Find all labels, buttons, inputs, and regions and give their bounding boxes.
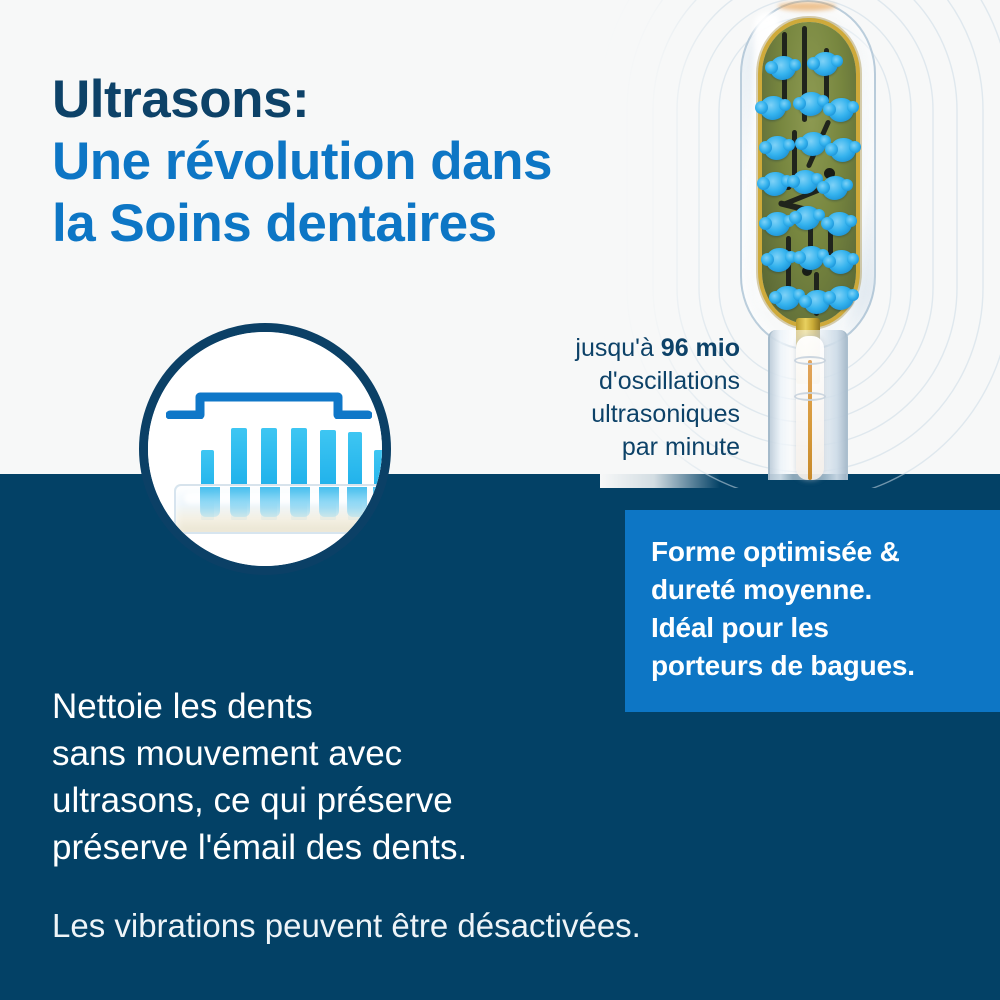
- body-line-1: Nettoie les dents: [52, 683, 612, 730]
- oscillation-caption: jusqu'à 96 mio d'oscillations ultrasoniq…: [470, 332, 740, 464]
- oscillation-line-1: jusqu'à 96 mio: [470, 332, 740, 365]
- callout-line-4: porteurs de bagues.: [651, 647, 981, 685]
- oscillation-prefix: jusqu'à: [575, 334, 660, 362]
- handle-inner-wire: [808, 360, 812, 480]
- callout-line-1: Forme optimisée &: [651, 533, 981, 571]
- footnote-text: Les vibrations peuvent être désactivées.: [52, 905, 932, 947]
- oscillation-line-2: d'oscillations: [470, 365, 740, 398]
- callout-text: Forme optimisée & dureté moyenne. Idéal …: [651, 533, 981, 685]
- callout-box: Forme optimisée & dureté moyenne. Idéal …: [625, 510, 1000, 712]
- bristle-profile-outline-icon: [166, 389, 372, 419]
- body-line-2: sans mouvement avec: [52, 730, 612, 777]
- title-line-2: Une révolution dans: [52, 131, 732, 193]
- oscillation-line-3: ultrasoniques: [470, 398, 740, 431]
- body-copy: Nettoie les dents sans mouvement avec ul…: [52, 683, 612, 871]
- callout-line-3: Idéal pour les: [651, 609, 981, 647]
- head-tip-highlight: [778, 2, 836, 11]
- body-line-4: préserve l'émail des dents.: [52, 824, 612, 871]
- toothbrush-handle: [768, 330, 848, 480]
- body-line-3: ultrasons, ce qui préserve: [52, 777, 612, 824]
- oscillation-value: 96 mio: [661, 334, 740, 362]
- toothbrush-head: [740, 0, 876, 470]
- oscillation-line-4: par minute: [470, 431, 740, 464]
- page-title: Ultrasons: Une révolution dans la Soins …: [52, 69, 732, 255]
- inset-white-field: [148, 332, 382, 566]
- infographic-poster: Ultrasons: Une révolution dans la Soins …: [0, 0, 1000, 1000]
- bristle-closeup-inset: [139, 323, 391, 575]
- callout-line-2: dureté moyenne.: [651, 571, 981, 609]
- title-line-3: la Soins dentaires: [52, 193, 732, 255]
- title-line-1: Ultrasons:: [52, 69, 732, 131]
